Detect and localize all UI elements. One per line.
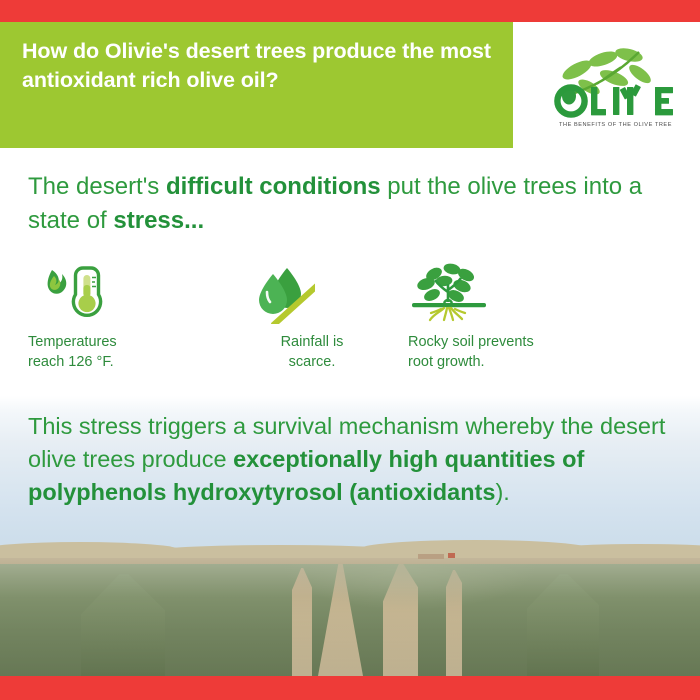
olive-grove-canopy (0, 564, 700, 676)
top-red-bar (0, 0, 700, 22)
stress-factors-row: Temperatures reach 126 °F. Rainfall is s… (0, 262, 700, 392)
closing-seg-2: ). (495, 479, 509, 505)
feature-rocky-soil-caption: Rocky soil prevents root growth. (408, 332, 598, 372)
farmhouse (418, 554, 444, 559)
feature-temperature-line1: Temperatures (28, 334, 117, 350)
feature-rainfall: Rainfall is scarce. (243, 262, 403, 372)
intro-seg-1: difficult conditions (166, 173, 381, 200)
feature-rocky-soil-line2: root growth. (408, 354, 485, 370)
dune-hump (540, 544, 700, 558)
logo-tagline: THE BENEFITS OF THE OLIVE TREE (543, 122, 688, 128)
page-title: How do Olivie's desert trees produce the… (22, 37, 502, 95)
feature-temperature-caption: Temperatures reach 126 °F. (28, 332, 203, 372)
feature-rocky-soil-line1: Rocky soil prevents (408, 334, 534, 350)
feature-temperature-line2: reach 126 °F. (28, 354, 114, 370)
infographic-root: How do Olivie's desert trees produce the… (0, 0, 700, 700)
intro-paragraph: The desert's difficult conditions put th… (28, 170, 648, 238)
tree-rocky-roots-icon (404, 262, 598, 324)
olivie-logo: THE BENEFITS OF THE OLIVE TREE (543, 38, 688, 140)
intro-seg-0: The desert's (28, 173, 166, 200)
farmhouse-roof (448, 553, 455, 558)
thermometer-flame-icon (42, 262, 203, 324)
olive-branch-icon (543, 38, 688, 128)
feature-rainfall-caption: Rainfall is scarce. (243, 332, 403, 372)
no-rainfall-droplets-icon (253, 262, 403, 324)
feature-rainfall-line1: Rainfall is (281, 334, 344, 350)
bottom-red-bar (0, 676, 700, 700)
intro-seg-3: stress... (113, 207, 204, 234)
feature-rainfall-line2: scarce. (289, 354, 336, 370)
closing-paragraph: This stress triggers a survival mechanis… (28, 410, 668, 509)
feature-rocky-soil: Rocky soil prevents root growth. (408, 262, 598, 372)
grove-shading (0, 564, 700, 676)
feature-temperature: Temperatures reach 126 °F. (28, 262, 203, 372)
